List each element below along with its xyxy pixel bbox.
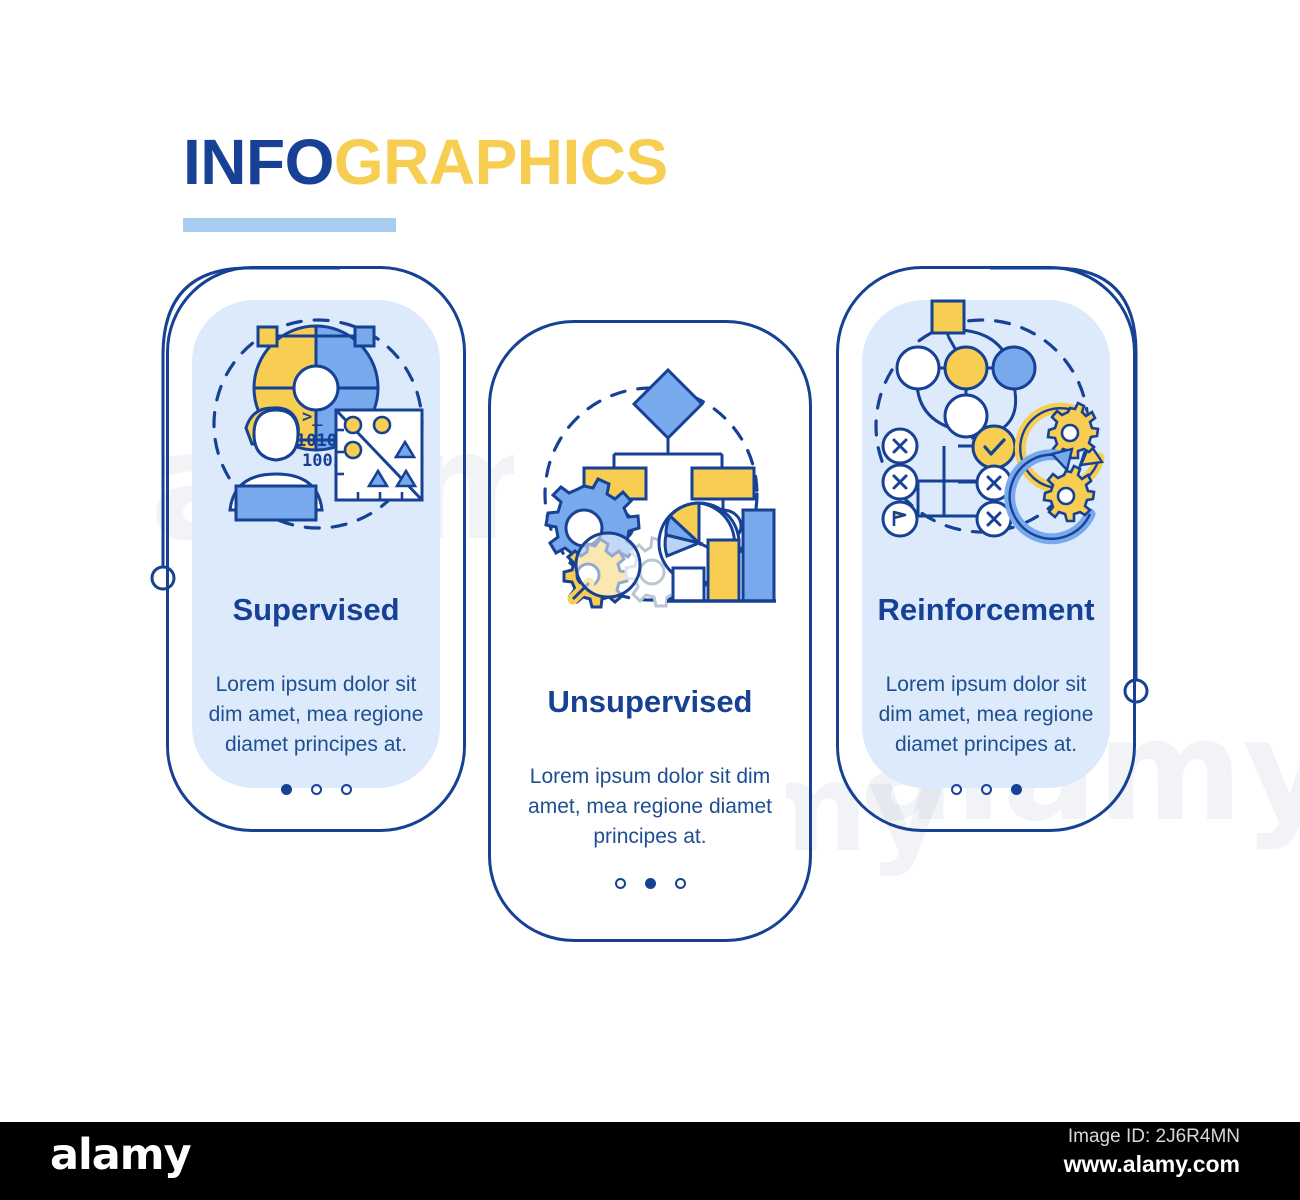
pagination-dots[interactable] — [166, 784, 466, 795]
pagination-dot-2[interactable] — [311, 784, 322, 795]
card-body-text: Lorem ipsum dolor sit dim amet, mea regi… — [836, 670, 1136, 759]
pagination-dot-1[interactable] — [951, 784, 962, 795]
alamy-logo: alamy — [50, 1130, 191, 1180]
pagination-dot-3[interactable] — [341, 784, 352, 795]
network-graph-glyph — [897, 301, 1035, 438]
card-title: Supervised — [166, 592, 466, 628]
card-title: Unsupervised — [488, 684, 812, 720]
supervised-learning-icon: >_ 1010 1001 — [208, 294, 428, 554]
pagination-dot-2[interactable] — [645, 878, 656, 889]
page-title: INFOGRAPHICS — [183, 130, 668, 194]
pagination-dot-1[interactable] — [281, 784, 292, 795]
magnifier-glyph — [573, 533, 640, 599]
reinforcement-learning-icon — [866, 296, 1106, 556]
card-reinforcement[interactable]: Reinforcement Lorem ipsum dolor sit dim … — [836, 266, 1136, 832]
title-underline-rule — [183, 218, 396, 232]
pagination-dot-2[interactable] — [981, 784, 992, 795]
title-part-graphics: GRAPHICS — [334, 126, 668, 198]
feedback-loop-glyph — [1010, 403, 1102, 539]
decision-tree-glyph — [883, 426, 1015, 536]
card-body-text: Lorem ipsum dolor sit dim amet, mea regi… — [488, 762, 812, 851]
pagination-dots[interactable] — [488, 878, 812, 889]
infographic-canvas: alamy alamy alamy INFOGRAPHICS — [0, 0, 1300, 1200]
stock-footer-bar: alamy Image ID: 2J6R4MN www.alamy.com — [0, 1122, 1300, 1200]
unsupervised-learning-icon — [526, 358, 776, 618]
scatter-plot-glyph — [336, 410, 422, 500]
pagination-dot-3[interactable] — [675, 878, 686, 889]
card-title: Reinforcement — [836, 592, 1136, 628]
pagination-dot-1[interactable] — [615, 878, 626, 889]
alamy-url[interactable]: www.alamy.com — [1064, 1151, 1240, 1178]
card-body-text: Lorem ipsum dolor sit dim amet, mea regi… — [166, 670, 466, 759]
pagination-dot-3[interactable] — [1011, 784, 1022, 795]
card-supervised[interactable]: >_ 1010 1001 — [166, 266, 466, 832]
card-unsupervised[interactable]: Unsupervised Lorem ipsum dolor sit dim a… — [488, 320, 812, 942]
title-part-info: INFO — [183, 126, 334, 198]
svg-text:1010: 1010 — [296, 431, 337, 451]
pagination-dots[interactable] — [836, 784, 1136, 795]
svg-text:>_: >_ — [302, 407, 323, 427]
image-id-label: Image ID: 2J6R4MN — [1068, 1126, 1240, 1148]
